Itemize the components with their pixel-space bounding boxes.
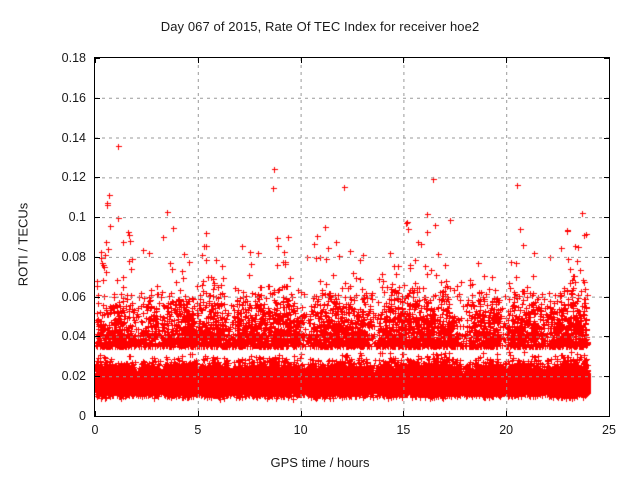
y-tick-label: 0.14 — [26, 131, 86, 145]
y-tick-mark — [604, 138, 610, 139]
y-tick-mark — [94, 336, 100, 337]
x-tick-mark — [301, 411, 302, 417]
x-tick-label: 5 — [168, 423, 228, 437]
plot-area — [94, 57, 610, 417]
x-tick-mark — [506, 57, 507, 63]
y-tick-mark — [94, 376, 100, 377]
x-tick-mark — [403, 411, 404, 417]
y-tick-mark — [604, 257, 610, 258]
gridlines — [95, 58, 609, 416]
x-tick-mark — [198, 411, 199, 417]
x-tick-mark — [609, 57, 610, 63]
x-tick-mark — [506, 411, 507, 417]
y-tick-mark — [604, 297, 610, 298]
y-tick-mark — [94, 177, 100, 178]
x-tick-label: 20 — [476, 423, 536, 437]
y-tick-label: 0.06 — [26, 290, 86, 304]
x-tick-mark — [95, 57, 96, 63]
x-tick-mark — [95, 411, 96, 417]
x-tick-mark — [609, 411, 610, 417]
y-tick-label: 0.08 — [26, 250, 86, 264]
x-tick-mark — [403, 57, 404, 63]
y-tick-mark — [94, 138, 100, 139]
y-tick-label: 0.16 — [26, 91, 86, 105]
y-tick-mark — [604, 376, 610, 377]
x-tick-label: 10 — [271, 423, 331, 437]
x-tick-label: 25 — [579, 423, 639, 437]
x-tick-label: 15 — [373, 423, 433, 437]
x-tick-mark — [301, 57, 302, 63]
y-tick-label: 0.18 — [26, 51, 86, 65]
y-tick-mark — [94, 217, 100, 218]
y-tick-label: 0.1 — [26, 210, 86, 224]
y-tick-mark — [604, 217, 610, 218]
chart-container: Day 067 of 2015, Rate Of TEC Index for r… — [0, 0, 640, 480]
y-tick-label: 0.12 — [26, 170, 86, 184]
y-tick-label: 0.02 — [26, 369, 86, 383]
y-tick-mark — [604, 336, 610, 337]
y-axis-label: ROTI / TECUs — [16, 175, 31, 315]
y-tick-mark — [604, 98, 610, 99]
x-tick-label: 0 — [65, 423, 125, 437]
y-tick-label: 0.04 — [26, 329, 86, 343]
y-tick-mark — [94, 257, 100, 258]
y-tick-mark — [604, 177, 610, 178]
chart-title: Day 067 of 2015, Rate Of TEC Index for r… — [0, 19, 640, 34]
y-tick-label: 0 — [26, 409, 86, 423]
y-tick-mark — [94, 297, 100, 298]
x-axis-label: GPS time / hours — [0, 455, 640, 470]
y-tick-mark — [94, 98, 100, 99]
x-tick-mark — [198, 57, 199, 63]
